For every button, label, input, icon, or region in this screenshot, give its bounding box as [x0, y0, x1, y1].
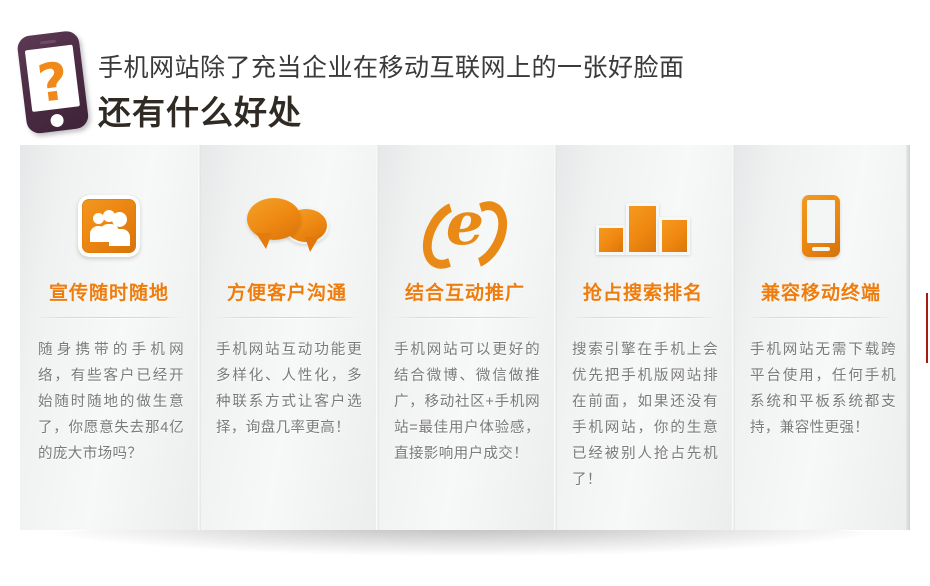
page-header: ? 手机网站除了充当企业在移动互联网上的一张好脸面 还有什么好处 — [0, 0, 930, 145]
icon-slot — [554, 190, 732, 262]
chat-bubbles-icon — [247, 198, 327, 254]
page-headline: 手机网站除了充当企业在移动互联网上的一张好脸面 — [98, 48, 685, 84]
mobile-device-icon — [802, 195, 840, 257]
benefit-title: 方便客户沟通 — [198, 278, 376, 305]
chat-bubble-large — [247, 198, 301, 240]
benefit-body: 手机网站可以更好的结合微博、微信做推广，移动社区+手机网站=最佳用户体验感，直接… — [394, 337, 540, 467]
page-subheadline: 还有什么好处 — [98, 86, 302, 134]
icon-slot — [198, 190, 376, 262]
benefit-column-device-compatibility[interactable]: 兼容移动终端 手机网站无需下载跨平台使用，任何手机系统和平板系统都支持，兼容性更… — [732, 145, 910, 530]
benefit-title: 兼容移动终端 — [732, 278, 910, 305]
title-divider-highlight — [392, 318, 538, 319]
question-mark-glyph: ? — [26, 55, 80, 112]
e-letter: e — [426, 193, 504, 255]
title-divider-highlight — [748, 318, 894, 319]
phone-screen: ? — [25, 45, 80, 112]
bar-3 — [659, 217, 690, 255]
title-divider-highlight — [214, 318, 360, 319]
benefit-body: 手机网站无需下载跨平台使用，任何手机系统和平板系统都支持，兼容性更强！ — [750, 337, 896, 441]
benefit-title: 抢占搜索排名 — [554, 278, 732, 305]
people-group-icon — [78, 195, 140, 257]
bar-chart-icon — [596, 197, 690, 255]
benefit-body: 搜索引擎在手机上会优先把手机版网站排在前面，如果还没有手机网站，你的生意已经被别… — [572, 337, 718, 493]
benefit-body: 随身携带的手机网络，有些客户已经开始随时随地的做生意了，你愿意失去那4亿的庞大市… — [38, 337, 184, 467]
benefit-column-social-promotion[interactable]: e 结合互动推广 手机网站可以更好的结合微博、微信做推广，移动社区+手机网站=最… — [376, 145, 554, 530]
right-edge-red-marker — [926, 293, 928, 363]
benefit-title: 宣传随时随地 — [20, 278, 198, 305]
internet-e-icon: e — [426, 197, 504, 255]
benefit-column-communication[interactable]: 方便客户沟通 手机网站互动功能更多样化、人性化，多种联系方式让客户选择，询盘几率… — [198, 145, 376, 530]
phone-body: ? — [16, 30, 89, 135]
benefit-column-promotion[interactable]: 宣传随时随地 随身携带的手机网络，有些客户已经开始随时随地的做生意了，你愿意失去… — [20, 145, 198, 530]
phone-home-button — [50, 113, 64, 127]
icon-slot — [732, 190, 910, 262]
phone-speaker — [40, 40, 56, 45]
bar-1 — [596, 225, 626, 255]
benefit-body: 手机网站互动功能更多样化、人性化，多种联系方式让客户选择，询盘几率更高！ — [216, 337, 362, 441]
icon-slot: e — [376, 190, 554, 262]
title-divider-highlight — [36, 318, 182, 319]
bar-2 — [626, 203, 659, 255]
mobile-screen — [807, 200, 835, 243]
benefits-panel: 宣传随时随地 随身携带的手机网络，有些客户已经开始随时随地的做生意了，你愿意失去… — [20, 145, 910, 530]
benefit-title: 结合互动推广 — [376, 278, 554, 305]
title-divider-highlight — [570, 318, 716, 319]
benefit-column-search-ranking[interactable]: 抢占搜索排名 搜索引擎在手机上会优先把手机版网站排在前面，如果还没有手机网站，你… — [554, 145, 732, 530]
phone-question-icon: ? — [16, 29, 94, 136]
mobile-home-bar — [812, 247, 830, 251]
icon-slot — [20, 190, 198, 262]
